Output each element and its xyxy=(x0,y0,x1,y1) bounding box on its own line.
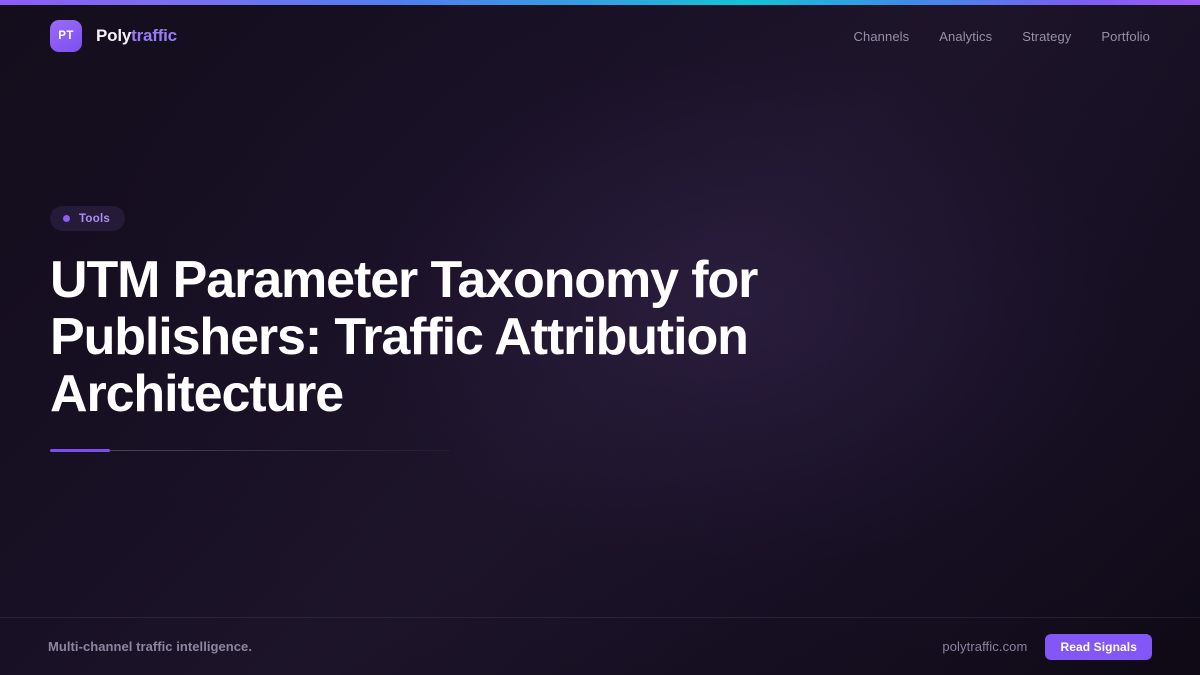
page-title: UTM Parameter Taxonomy for Publishers: T… xyxy=(50,252,810,423)
category-badge-label: Tools xyxy=(79,213,110,225)
brand-logo[interactable]: PT Polytraffic xyxy=(50,20,177,52)
page-root: PT Polytraffic Channels Analytics Strate… xyxy=(0,0,1200,675)
nav-item-strategy[interactable]: Strategy xyxy=(1022,29,1071,44)
hero-section: Tools UTM Parameter Taxonomy for Publish… xyxy=(50,206,850,452)
title-divider xyxy=(50,449,450,452)
brand-name-primary: Poly xyxy=(96,26,131,45)
category-badge[interactable]: Tools xyxy=(50,206,125,231)
status-dot-icon xyxy=(63,215,70,222)
footer-url: polytraffic.com xyxy=(942,639,1027,654)
footer-actions: polytraffic.com Read Signals xyxy=(942,634,1152,660)
primary-nav: Channels Analytics Strategy Portfolio xyxy=(854,29,1150,44)
nav-item-channels[interactable]: Channels xyxy=(854,29,910,44)
footer-tagline: Multi-channel traffic intelligence. xyxy=(48,639,252,654)
brand-name-accent: traffic xyxy=(131,26,177,45)
site-header: PT Polytraffic Channels Analytics Strate… xyxy=(0,5,1200,67)
nav-item-portfolio[interactable]: Portfolio xyxy=(1101,29,1150,44)
top-gradient-bar xyxy=(0,0,1200,5)
divider-accent xyxy=(50,449,110,452)
brand-name: Polytraffic xyxy=(96,26,177,46)
nav-item-analytics[interactable]: Analytics xyxy=(939,29,992,44)
logo-mark-icon: PT xyxy=(50,20,82,52)
site-footer: Multi-channel traffic intelligence. poly… xyxy=(0,617,1200,675)
read-signals-button[interactable]: Read Signals xyxy=(1045,634,1152,660)
divider-line xyxy=(50,450,450,451)
